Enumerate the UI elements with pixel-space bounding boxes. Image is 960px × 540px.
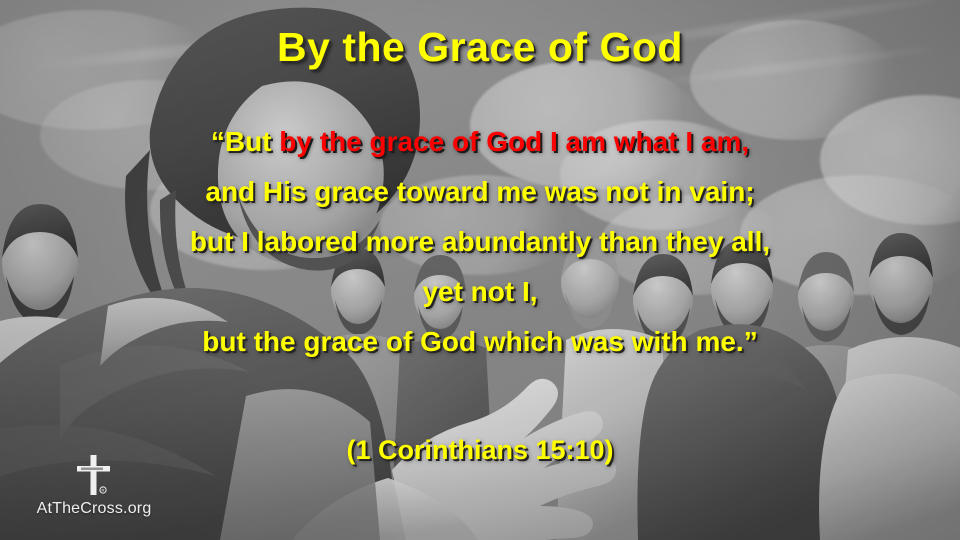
cross-icon: R (28, 453, 160, 499)
watermark-brand-label: AtTheCross.org (28, 500, 160, 518)
svg-text:R: R (102, 488, 105, 493)
verse-line-1-emphasis: by the grace of God I am what I am, (279, 126, 749, 157)
verse-line-5: but the grace of God which was with me.” (0, 317, 960, 367)
site-watermark: R AtTheCross.org (28, 453, 160, 518)
scripture-slide: By the Grace of God “But by the grace of… (0, 0, 960, 540)
page-title: By the Grace of God (0, 24, 960, 71)
verse-line-1-prefix: “But (211, 126, 279, 157)
verse-line-4: yet not I, (0, 267, 960, 317)
verse-line-3: but I labored more abundantly than they … (0, 217, 960, 267)
verse-block: “But by the grace of God I am what I am,… (0, 117, 960, 367)
verse-line-2: and His grace toward me was not in vain; (0, 167, 960, 217)
verse-line-1: “But by the grace of God I am what I am, (0, 117, 960, 167)
